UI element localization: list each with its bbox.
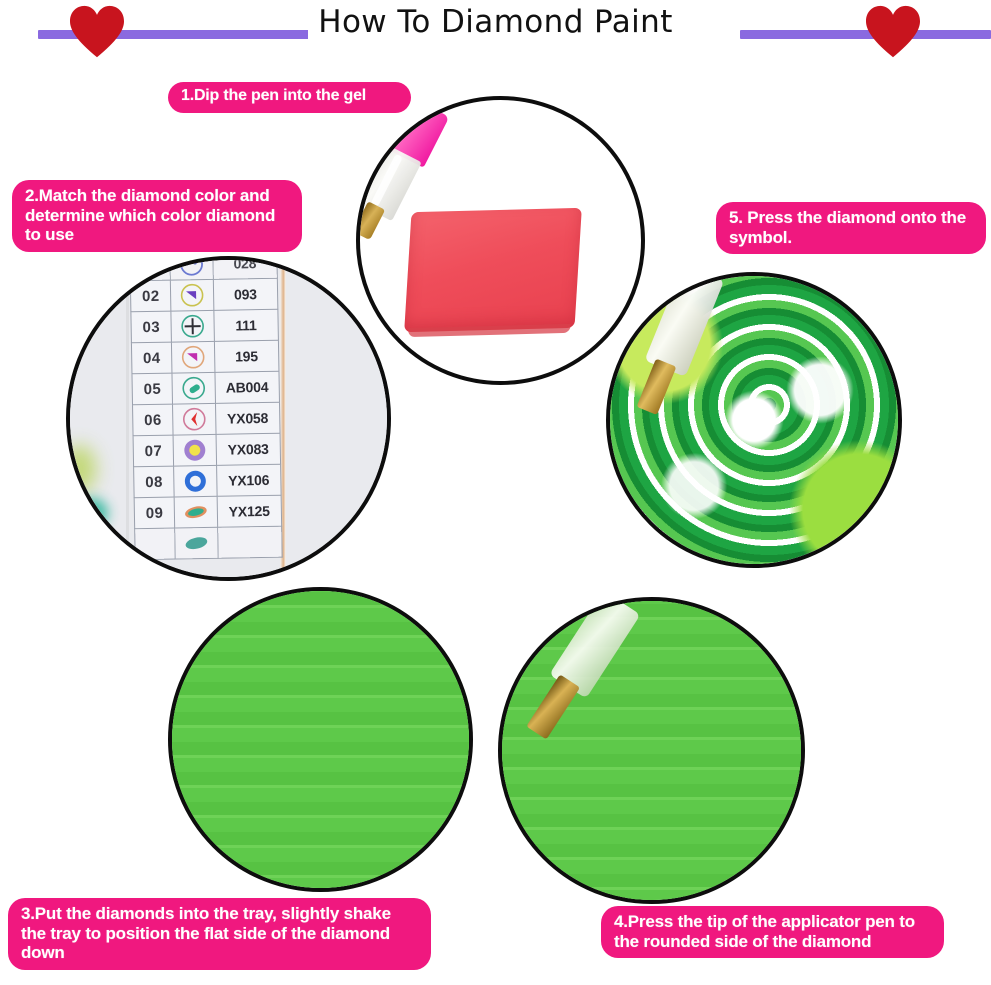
pen-tip: [526, 674, 580, 739]
step-5-photo: [606, 272, 902, 568]
step-3-label: 3.Put the diamonds into the tray, slight…: [8, 898, 431, 970]
chart-cell-code: YX083: [216, 433, 281, 465]
page-title: How To Diamond Paint: [0, 4, 991, 40]
chart-cell-code: YX106: [216, 464, 281, 496]
leaf-symbol: [174, 496, 217, 528]
red-gel-pad: [404, 208, 582, 332]
chart-row: 05AB004: [132, 371, 280, 405]
chart-row: [135, 526, 283, 560]
chart-row: 03111: [131, 309, 279, 343]
chart-cell-number: 09: [134, 497, 175, 529]
chart-cell-number: 07: [133, 435, 174, 467]
chart-cell-number: [135, 528, 176, 560]
color-code-chart: 0202802093031110419505AB00406YX05807YX08…: [129, 256, 282, 560]
pill-symbol: [172, 372, 215, 404]
step-1-photo: [356, 96, 645, 385]
paper-fold: [126, 260, 129, 577]
plus-cross-symbol: [171, 310, 214, 342]
chart-cell-number: 02: [130, 256, 171, 281]
chart-row: 06YX058: [133, 402, 281, 436]
ring-symbol: [174, 465, 217, 497]
chart-paper: 0202802093031110419505AB00406YX05807YX08…: [70, 260, 387, 577]
chevron-left-symbol: [173, 403, 216, 435]
pen-tip: [356, 201, 385, 240]
chart-row: 08YX106: [134, 464, 282, 498]
chart-cell-code: 195: [214, 340, 279, 372]
chart-row: 04195: [131, 340, 279, 374]
face-symbol: [170, 256, 213, 280]
chart-cell-code: 093: [213, 278, 278, 310]
step-2-photo: 0202802093031110419505AB00406YX05807YX08…: [66, 256, 391, 581]
blurred-color-blob: [66, 445, 96, 493]
step-5-label: 5. Press the diamond onto the symbol.: [716, 202, 986, 254]
chart-cell-code: YX125: [217, 495, 282, 527]
pen-tip: [637, 359, 677, 415]
step-3-photo: [168, 587, 473, 892]
chart-row: 07YX083: [133, 433, 281, 467]
chart-cell-number: 03: [131, 311, 172, 343]
triangle-symbol: [172, 341, 215, 373]
green-tray: [168, 587, 473, 892]
chart-cell-code: [217, 526, 282, 558]
chart-cell-number: 05: [132, 373, 173, 405]
dot-in-ring-symbol: [173, 434, 216, 466]
step-1-label: 1.Dip the pen into the gel: [168, 82, 411, 113]
step-4-photo: [498, 597, 805, 904]
chart-cell-code: 028: [212, 256, 277, 279]
chart-cell-number: 04: [131, 342, 172, 374]
blurred-color-blob: [76, 498, 108, 528]
page-header: How To Diamond Paint: [0, 0, 991, 62]
chart-cell-number: 02: [130, 280, 171, 312]
triangle-symbol: [171, 279, 214, 311]
page-title-text: How To Diamond Paint: [308, 4, 683, 40]
chart-cell-number: 06: [133, 404, 174, 436]
chart-cell-code: YX058: [215, 402, 280, 434]
chart-row: 02028: [130, 256, 278, 281]
step-4-label: 4.Press the tip of the applicator pen to…: [601, 906, 944, 958]
chart-cell-number: 08: [134, 466, 175, 498]
chart-row: 02093: [130, 278, 278, 312]
chart-cell-code: AB004: [215, 371, 280, 403]
leaf-symbol: [175, 527, 218, 559]
step-2-label: 2.Match the diamond color and determine …: [12, 180, 302, 252]
chart-cell-code: 111: [214, 309, 279, 341]
chart-row: 09YX125: [134, 495, 282, 529]
